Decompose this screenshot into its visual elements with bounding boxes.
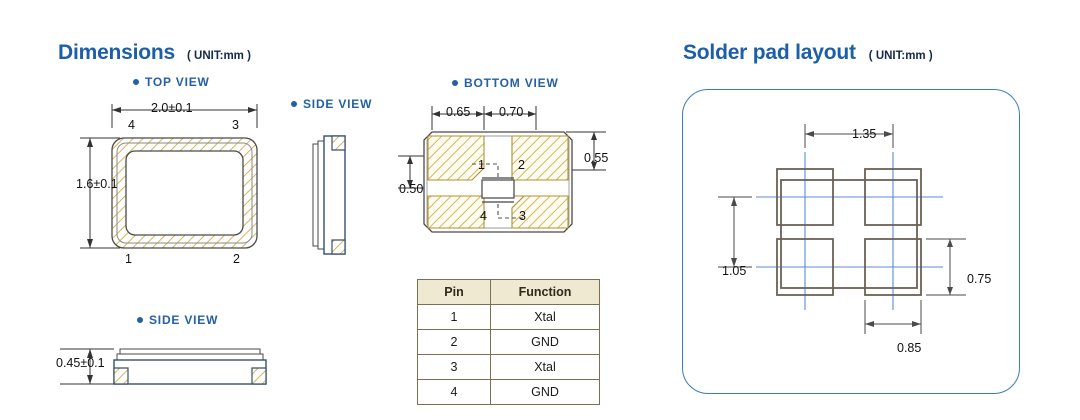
top-view-width-dim: 2.0±0.1 <box>151 101 193 115</box>
solder-pad-body-outline <box>781 180 917 288</box>
top-view-pin-1: 1 <box>125 252 132 266</box>
cell-pin: 2 <box>418 330 491 355</box>
table-header-pin: Pin <box>418 280 491 305</box>
solder-pad-unit: ( UNIT:mm ) <box>869 50 933 62</box>
view-label-side-right-text: SIDE VIEW <box>303 97 372 111</box>
dimensions-unit: ( UNIT:mm ) <box>187 50 251 62</box>
view-label-top: TOP VIEW <box>133 75 210 89</box>
centerlines <box>756 152 943 310</box>
bottom-view-dim-height-left: 0.50 <box>399 182 423 196</box>
side-h-body <box>114 360 266 384</box>
view-label-side-bottom-text: SIDE VIEW <box>149 313 218 327</box>
table-row: 1 Xtal <box>418 305 600 330</box>
solder-dim-left: 1.05 <box>722 264 746 278</box>
bullet-icon <box>452 80 458 86</box>
bottom-view-pin-4: 4 <box>480 209 487 223</box>
bullet-icon <box>133 79 139 85</box>
cell-function: Xtal <box>491 355 600 380</box>
cell-function: GND <box>491 330 600 355</box>
table-header-function: Function <box>491 280 600 305</box>
bottom-view-pad-1 <box>428 136 484 180</box>
table-row: 2 GND <box>418 330 600 355</box>
side-h-terminal-right <box>252 368 266 384</box>
solder-pad-drawing <box>700 110 1020 380</box>
top-view-pin-4: 4 <box>128 118 135 132</box>
top-view-pin-2: 2 <box>233 252 240 266</box>
solder-pad-title: Solder pad layout <box>683 41 856 65</box>
crystal-symbol <box>482 178 514 202</box>
side-h-terminal-left <box>114 368 128 384</box>
bottom-view-pad-4 <box>428 196 484 228</box>
solder-dim-bottom: 0.85 <box>897 341 921 355</box>
view-label-side-bottom: SIDE VIEW <box>137 313 218 327</box>
bullet-icon <box>291 101 297 107</box>
side-h-mid-slab <box>117 354 263 360</box>
side-view-terminal-bottom <box>332 240 345 254</box>
cell-function: Xtal <box>491 305 600 330</box>
package-lid <box>126 151 243 235</box>
bottom-view-drawing <box>398 100 633 265</box>
view-label-bottom: BOTTOM VIEW <box>452 76 559 90</box>
side-view-vertical-drawing <box>305 130 365 260</box>
view-label-top-text: TOP VIEW <box>145 75 210 89</box>
view-label-side-right: SIDE VIEW <box>291 97 372 111</box>
table-row: 3 Xtal <box>418 355 600 380</box>
dim-line-pad-top <box>805 124 893 148</box>
bottom-view-pin-3: 3 <box>519 209 526 223</box>
view-label-bottom-text: BOTTOM VIEW <box>464 76 559 90</box>
dimensions-title: Dimensions <box>58 41 175 65</box>
bottom-view-dim-height-right: 0.55 <box>584 151 608 165</box>
side-h-lid-slab <box>120 349 260 354</box>
bullet-icon <box>137 317 143 323</box>
side-view-body <box>324 136 345 254</box>
cell-pin: 3 <box>418 355 491 380</box>
cell-pin: 1 <box>418 305 491 330</box>
table-header-row: Pin Function <box>418 280 600 305</box>
dim-line-pad-left <box>718 197 752 267</box>
pin-function-table: Pin Function 1 Xtal 2 GND 3 Xtal 4 GND <box>417 279 600 405</box>
top-view-pin-3: 3 <box>232 118 239 132</box>
side-view-terminal-top <box>332 136 345 150</box>
cell-function: GND <box>491 380 600 405</box>
top-view-height-dim: 1.6±0.1 <box>76 177 118 191</box>
bottom-view-pin-2: 2 <box>518 158 525 172</box>
solder-dim-right: 0.75 <box>967 272 991 286</box>
dimensions-section-heading: Dimensions ( UNIT:mm ) <box>58 41 251 65</box>
solder-section-heading: Solder pad layout ( UNIT:mm ) <box>683 41 933 65</box>
bottom-view-pin-1: 1 <box>478 158 485 172</box>
bottom-view-dim-gap: 0.70 <box>499 105 523 119</box>
side-view-height-dim: 0.45±0.1 <box>56 356 105 370</box>
solder-dim-top: 1.35 <box>852 127 876 141</box>
cell-pin: 4 <box>418 380 491 405</box>
bottom-view-dim-pad-width: 0.65 <box>446 105 470 119</box>
table-row: 4 GND <box>418 380 600 405</box>
